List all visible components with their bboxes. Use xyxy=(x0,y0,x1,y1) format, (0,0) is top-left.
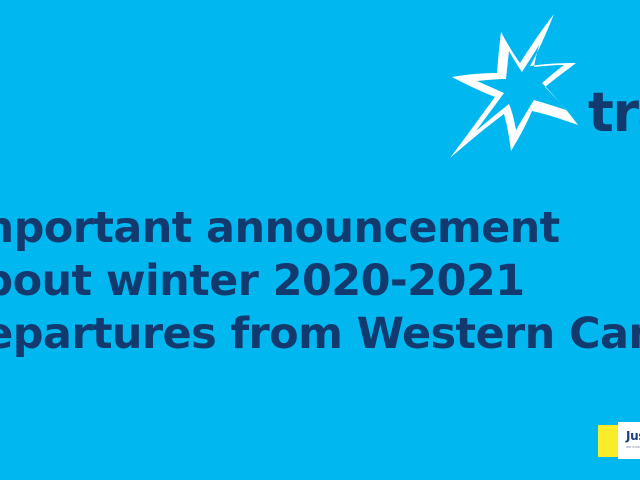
badge-title: Just Travel xyxy=(626,430,640,442)
badge-card: Just Travel we know travel xyxy=(618,422,640,459)
page-title: Important announcement about winter 2020… xyxy=(0,202,640,361)
headline-line-2: about winter 2020-2021 xyxy=(0,255,640,308)
badge-subtitle: we know travel xyxy=(626,445,640,449)
headline-line-3: departures from Western Canada xyxy=(0,308,640,361)
transat-star-icon xyxy=(446,12,596,187)
transat-wordmark: transat xyxy=(588,86,640,140)
partner-badge: Just Travel we know travel xyxy=(598,420,640,460)
transat-logo: transat xyxy=(446,12,640,187)
promo-banner: transat Important announcement about win… xyxy=(0,0,640,480)
headline-line-1: Important announcement xyxy=(0,202,640,255)
badge-accent-block xyxy=(598,425,620,457)
